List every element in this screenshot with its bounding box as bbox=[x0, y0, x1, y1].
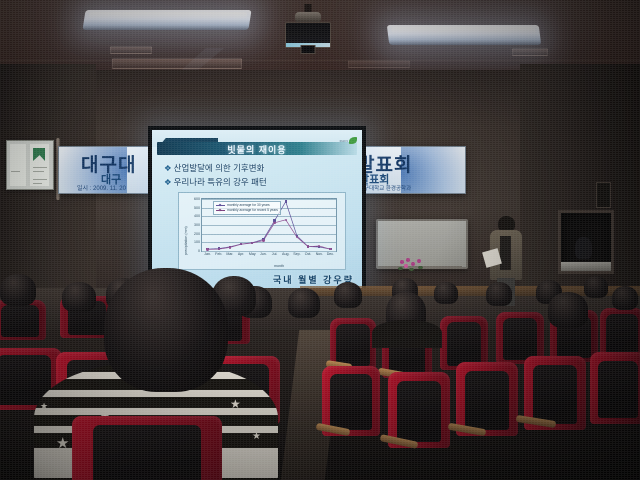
booth-ledge bbox=[561, 262, 611, 271]
slide-logo-text: RAIN bbox=[340, 139, 348, 143]
bullet-marker-icon: ❖ bbox=[164, 177, 172, 187]
chart-legend: monthly average for 30 yearsmonthly aver… bbox=[213, 201, 281, 215]
chart-y-tick: 200 bbox=[194, 232, 200, 236]
chart-y-tick: 100 bbox=[194, 240, 200, 244]
chart-x-axis-label: month bbox=[274, 264, 284, 268]
auditorium-seat[interactable] bbox=[388, 372, 450, 448]
chart-x-tick: Feb. bbox=[215, 252, 222, 256]
chart-x-tick: Jul. bbox=[272, 252, 278, 256]
audience-head bbox=[548, 292, 588, 328]
chart-x-tick: May bbox=[249, 252, 256, 256]
air-vent bbox=[112, 58, 242, 69]
presenter-shirt bbox=[500, 236, 511, 270]
ceiling-light-left bbox=[82, 10, 251, 30]
poster-text-line bbox=[11, 171, 20, 172]
ceiling-projector bbox=[278, 4, 338, 56]
chart-x-tick: Aug. bbox=[282, 252, 289, 256]
slide-logo: RAIN bbox=[340, 132, 357, 150]
projector-lens bbox=[301, 45, 316, 54]
chart-legend-item: monthly average for recent 5 years bbox=[216, 208, 278, 213]
audience-head bbox=[584, 276, 608, 298]
chart-x-tick: Mar. bbox=[226, 252, 233, 256]
chart-y-tick: 500 bbox=[194, 206, 200, 210]
auditorium-seat[interactable] bbox=[322, 366, 380, 436]
chart-x-tick: Jun. bbox=[260, 252, 267, 256]
auditorium-seat[interactable] bbox=[72, 416, 222, 480]
audience-head bbox=[434, 282, 458, 304]
legend-line-icon bbox=[216, 205, 225, 206]
poster-text-line bbox=[33, 179, 47, 180]
audience-head bbox=[612, 286, 638, 310]
auditorium-seat[interactable] bbox=[590, 352, 640, 424]
chart-y-tick: 300 bbox=[194, 223, 200, 227]
chart-x-tick: Oct. bbox=[305, 252, 312, 256]
control-booth-window bbox=[558, 210, 614, 274]
poster-text-line bbox=[33, 171, 44, 172]
bullet-marker-icon: ❖ bbox=[164, 163, 172, 173]
booth-technician bbox=[575, 237, 592, 259]
banner-date: 일시 : 2009. 11. 20 bbox=[77, 183, 126, 192]
audience-head bbox=[62, 282, 96, 312]
banner-org: 대구대학교 환경공학과 bbox=[359, 184, 411, 192]
auditorium-seat[interactable] bbox=[0, 300, 46, 340]
chart-data-point bbox=[262, 239, 264, 241]
chart-data-point bbox=[229, 246, 231, 248]
chart-x-tick: Sep. bbox=[293, 252, 300, 256]
rainfall-chart: precipitation (mm) 0100200300400500600Ja… bbox=[178, 192, 346, 270]
chart-y-axis-label: precipitation (mm) bbox=[184, 226, 188, 255]
slide-bullet-2: ❖우리나라 특유의 강우 패턴 bbox=[164, 176, 267, 188]
audience-head bbox=[486, 282, 512, 306]
ceiling-light-right bbox=[387, 25, 541, 45]
auditorium-photo: 대구대 대구 일시 : 2009. 11. 20 발표회 발표회 대구대학교 환… bbox=[0, 0, 640, 480]
foreground-audience-head bbox=[104, 268, 228, 392]
legend-line-icon bbox=[216, 210, 225, 211]
slide-bullet-1-text: 산업발달에 의한 기후변화 bbox=[174, 163, 265, 173]
star-icon: ★ bbox=[56, 436, 69, 451]
audience-head bbox=[334, 282, 362, 308]
audience-head bbox=[288, 288, 320, 318]
chart-x-tick: Nov. bbox=[316, 252, 323, 256]
leaf-icon bbox=[349, 137, 357, 144]
chart-y-tick: 600 bbox=[194, 197, 200, 201]
right-wall bbox=[520, 64, 640, 314]
chart-y-tick: 0 bbox=[198, 249, 200, 253]
auditorium-seat[interactable] bbox=[330, 318, 376, 370]
chart-data-point bbox=[285, 200, 287, 202]
chart-x-tick: Jan. bbox=[204, 252, 211, 256]
star-icon: ★ bbox=[40, 402, 48, 411]
auditorium-seat[interactable] bbox=[524, 356, 586, 430]
event-banner-right: 발표회 발표회 대구대학교 환경공학과 bbox=[352, 146, 466, 194]
projection-screen: 빗물의 재이용 RAIN ❖산업발달에 의한 기후변화 ❖우리나라 특유의 강우… bbox=[152, 130, 362, 288]
air-vent bbox=[348, 60, 410, 68]
chart-data-point bbox=[273, 222, 275, 224]
ceiling-seam bbox=[0, 60, 640, 61]
auditorium-seat[interactable] bbox=[456, 362, 518, 436]
chart-x-tick: Apr. bbox=[238, 252, 244, 256]
poster-text-line bbox=[33, 167, 47, 168]
slide-title: 빗물의 재이용 bbox=[152, 143, 362, 156]
poster-text-line bbox=[33, 183, 42, 184]
star-icon: ★ bbox=[252, 432, 261, 442]
star-icon: ★ bbox=[230, 398, 241, 410]
chart-legend-label: monthly average for recent 5 years bbox=[227, 208, 278, 213]
slide-bullet-1: ❖산업발달에 의한 기후변화 bbox=[164, 162, 264, 174]
wall-poster bbox=[6, 140, 54, 190]
chart-y-tick: 400 bbox=[194, 214, 200, 218]
chart-x-tick: Dec. bbox=[327, 252, 334, 256]
audience-head bbox=[0, 274, 36, 306]
flower-arrangement bbox=[398, 258, 428, 274]
chart-data-point bbox=[206, 248, 208, 250]
air-vent bbox=[110, 46, 152, 54]
chart-data-point bbox=[285, 219, 287, 221]
slide-bullet-2-text: 우리나라 특유의 강우 패턴 bbox=[174, 177, 267, 187]
audience-shoulders bbox=[372, 320, 442, 348]
poster-panel bbox=[10, 144, 26, 186]
air-vent bbox=[512, 48, 548, 56]
wall-speaker bbox=[596, 182, 611, 208]
